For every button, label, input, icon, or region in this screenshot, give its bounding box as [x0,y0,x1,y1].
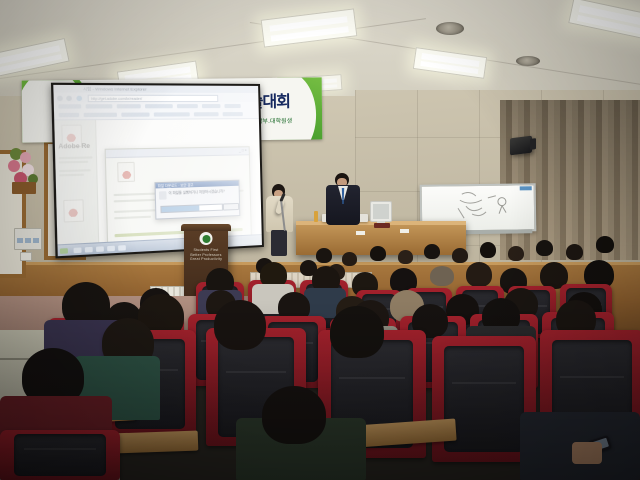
download-progress-bar [160,204,223,214]
papers [356,231,365,235]
forward-icon[interactable] [66,95,72,100]
toolbar-chip[interactable] [202,104,221,108]
audience-head [536,240,553,256]
audience-head [262,386,326,444]
moderator-person [326,173,360,225]
bottle [314,211,318,222]
audience-head [466,262,492,287]
taskbar-item[interactable] [73,247,81,253]
lectern-motto: Students First Better Professors Great P… [184,248,228,262]
back-icon[interactable] [57,95,63,100]
audience-head [370,246,386,261]
toolbar-chip[interactable] [177,104,198,108]
ceiling-speaker-icon [436,22,464,35]
toolbar-chip[interactable] [86,104,113,108]
seat-armrest [112,431,199,454]
dialog-confirm-button[interactable] [223,203,239,211]
audience-head [566,244,583,260]
pdf-icon [117,162,135,182]
motto-line-3: Great Productivity [184,257,228,262]
projection-screen: 시험 - Windows Internet Explorer http://ge… [51,83,264,259]
dialog-titlebar: 파일 다운로드 - 보안 경고 [156,181,239,189]
dialog-message: 이 파일을 실행하거나 저장하시겠습니까? [169,189,235,195]
toolbar-chip[interactable] [223,112,243,116]
taskbar-item[interactable] [85,246,93,252]
audience-head [330,306,384,358]
toolbar-chip[interactable] [154,112,190,116]
ceiling-speaker-icon [516,56,540,66]
book [374,223,390,228]
audience-head [214,300,266,350]
banner-sub-green: 학부․대학원생 [257,116,292,125]
auditorium-seat[interactable] [0,430,120,480]
address-bar-value: http://get.adobe.com/kr/reader/ [91,96,142,100]
pdf-icon [63,199,84,222]
download-security-dialog[interactable]: 파일 다운로드 - 보안 경고 이 파일을 실행하거나 저장하시겠습니까? [154,180,240,220]
wall-speaker-icon [510,136,532,156]
download-window-titlebar: _ □ × [106,147,249,158]
address-bar[interactable]: http://get.adobe.com/kr/reader/ [88,95,219,102]
curtain-shadow [500,100,640,260]
browser-window-title: 시험 - Windows Internet Explorer [83,86,147,93]
system-tray[interactable] [232,238,258,244]
floral-arrangement [6,148,42,196]
audience-head [508,246,524,261]
toolbar-chip[interactable] [194,112,219,116]
toolbar-chip[interactable] [84,113,117,117]
presenter-person [266,184,294,256]
toolbar-chip[interactable] [117,104,141,108]
refresh-icon[interactable] [76,95,82,100]
photo-scene: 2 술대회 일시 학부․대학원생 시험 - Windows Internet E… [0,0,640,480]
papers [400,229,409,233]
page-brand: Adobe Re [58,144,90,151]
toolbar-chip[interactable] [121,112,149,116]
audience-head [596,236,614,253]
university-logo-icon [200,232,213,245]
taskbar-item[interactable] [107,245,115,251]
warning-icon [159,191,167,200]
wall-control-panel[interactable] [14,228,42,250]
light-switch[interactable] [20,252,32,261]
taskbar-item[interactable] [96,246,104,252]
desktop-monitor [370,201,392,222]
audience-head [342,252,357,266]
audience-head [452,248,468,263]
audience-head [480,242,496,258]
dialog-title: 파일 다운로드 - 보안 경고 [158,182,194,188]
toolbar-chip[interactable] [224,104,240,108]
toolbar-chip[interactable] [59,113,80,117]
toolbar-chip[interactable] [58,104,81,108]
start-button[interactable] [60,248,68,254]
audience-head-cap [430,266,454,286]
taskbar-item[interactable] [118,245,126,251]
audience-head [316,248,332,263]
audience-head [398,250,413,264]
toolbar-chip[interactable] [145,104,173,108]
hand [572,442,602,464]
audience-head [424,244,440,259]
